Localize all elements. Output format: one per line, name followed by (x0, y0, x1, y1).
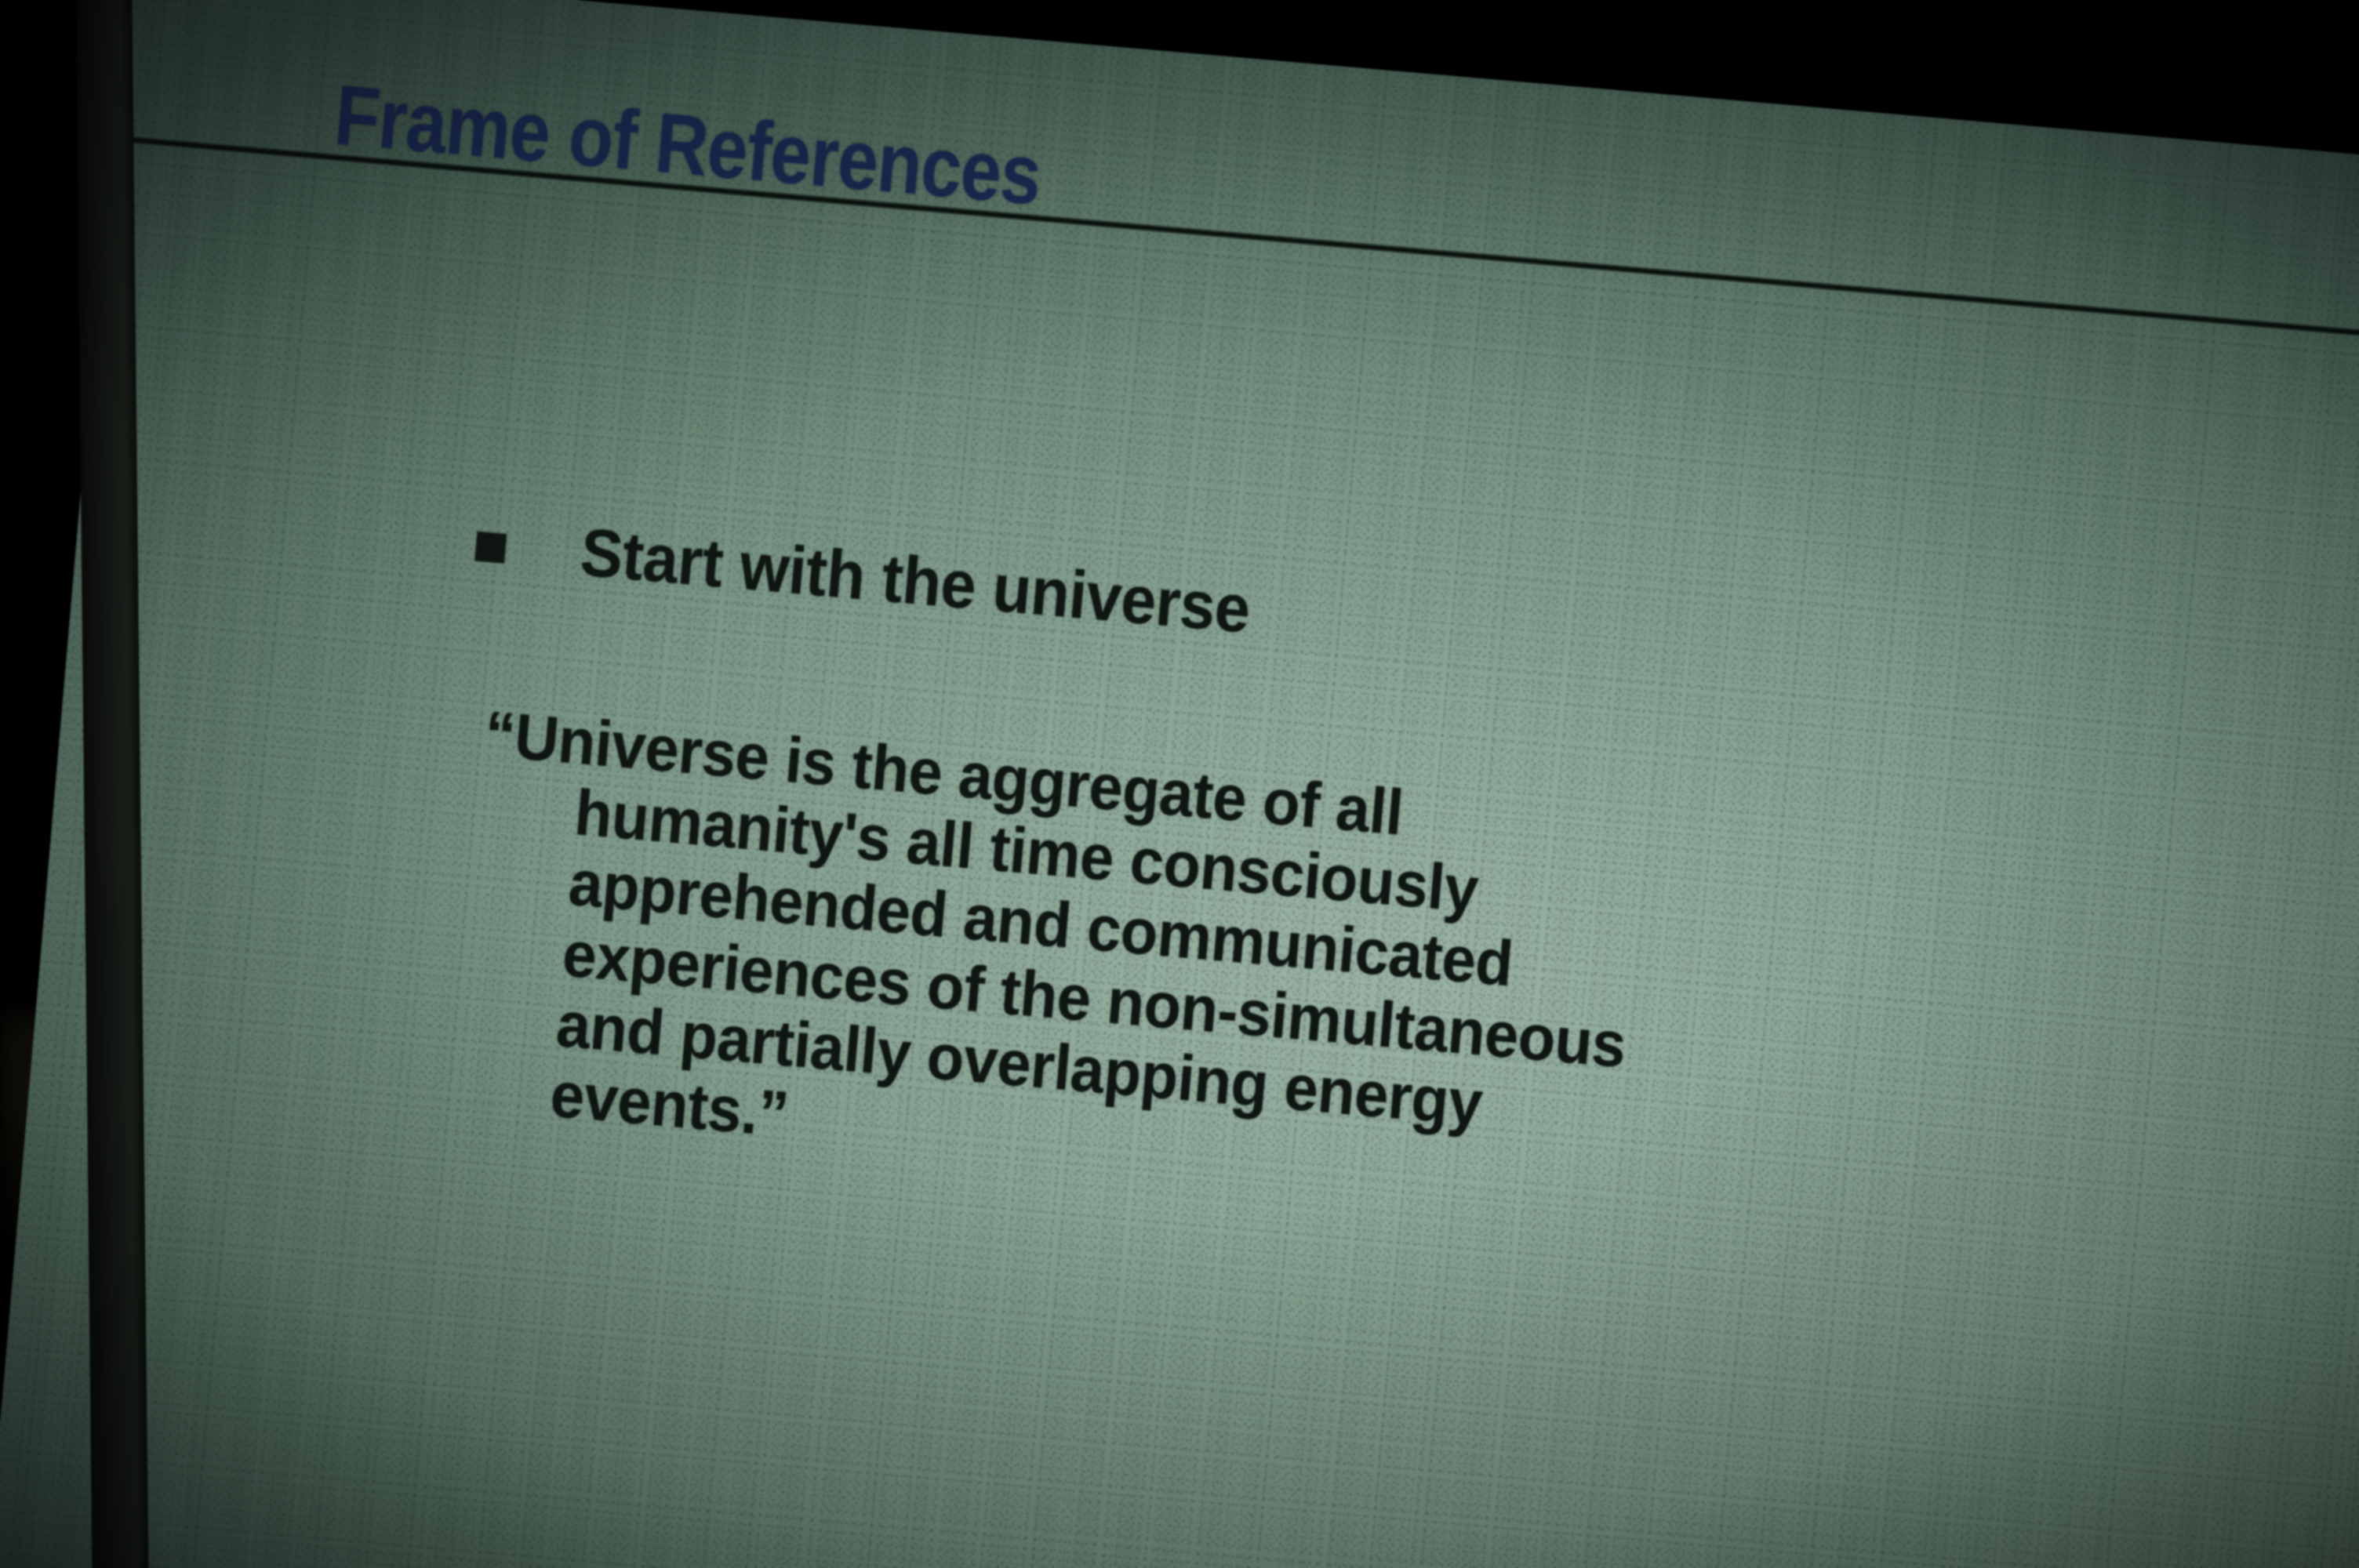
square-bullet-icon (474, 532, 507, 564)
bullet-list-item: Start with the universe (473, 510, 1296, 649)
quote-paragraph: “Universe is the aggregate of all humani… (451, 699, 1838, 1239)
projection-screen: Frame of References Start with the unive… (0, 0, 2359, 1568)
title-divider-rule (111, 135, 2359, 347)
projected-slide-photo: Frame of References Start with the unive… (0, 0, 2359, 1568)
bullet-item-label: Start with the universe (578, 518, 1253, 644)
slide-title: Frame of References (332, 72, 1044, 217)
slide-content: Frame of References Start with the unive… (0, 0, 2359, 1568)
